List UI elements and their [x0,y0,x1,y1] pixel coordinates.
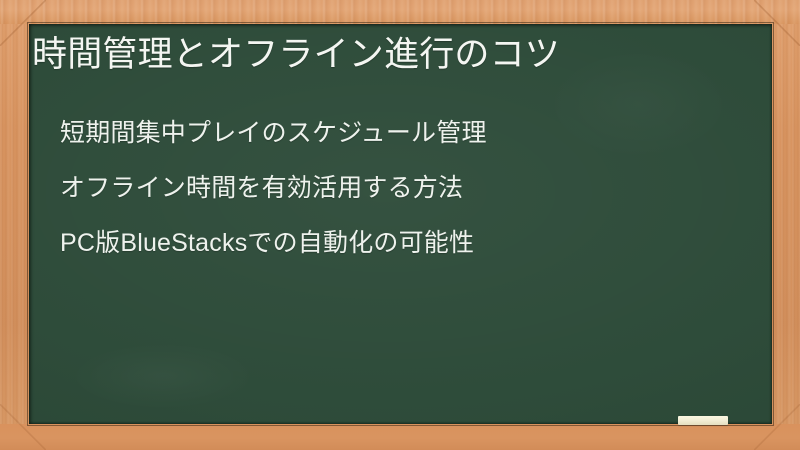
bullet-item: 短期間集中プレイのスケジュール管理 [60,106,487,161]
chalk-stick-icon [678,416,728,425]
bullet-item: PC版BlueStacksでの自動化の可能性 [60,216,487,271]
wooden-frame-top-rail [0,0,800,24]
slide-title: 時間管理とオフライン進行のコツ [32,32,560,78]
chalkboard-content: 時間管理とオフライン進行のコツ 短期間集中プレイのスケジュール管理 オフライン時… [29,24,772,424]
chalkboard-slide: 時間管理とオフライン進行のコツ 短期間集中プレイのスケジュール管理 オフライン時… [0,0,800,450]
wooden-frame-bottom-ledge [0,424,800,450]
chalkboard-surface: 時間管理とオフライン進行のコツ 短期間集中プレイのスケジュール管理 オフライン時… [29,24,772,424]
bullet-list: 短期間集中プレイのスケジュール管理 オフライン時間を有効活用する方法 PC版Bl… [60,106,487,271]
bullet-item: オフライン時間を有効活用する方法 [60,161,487,216]
